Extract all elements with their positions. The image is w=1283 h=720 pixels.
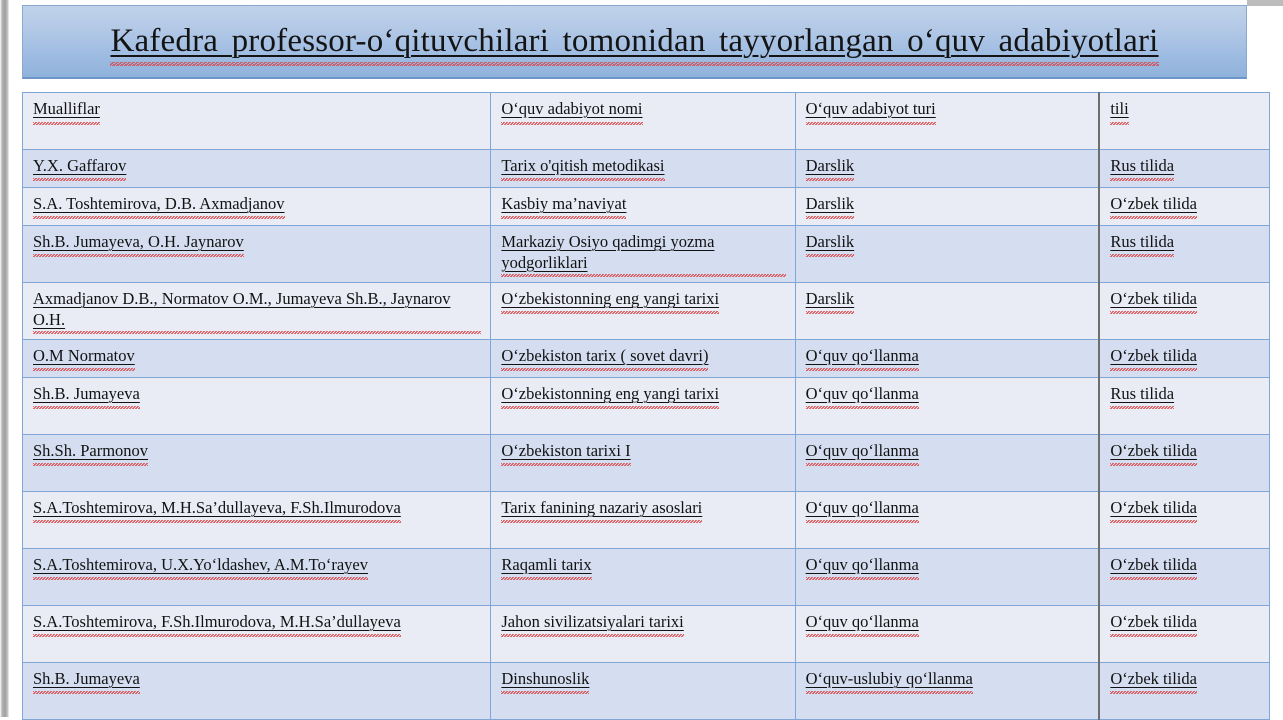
cell-type-text: Darslik — [806, 289, 855, 310]
cell-type: O‘quv qo‘llanma — [795, 378, 1099, 435]
cell-type-text: O‘quv-uslubiy qo‘llanma — [806, 669, 973, 690]
table-body: Y.X. GaffarovTarix o'qitish metodikasiDa… — [23, 150, 1270, 720]
cell-name-text: Raqamli tarix — [501, 555, 591, 576]
cell-authors-text: Sh.B. Jumayeva — [33, 384, 140, 405]
cell-type: O‘quv qo‘llanma — [795, 549, 1099, 606]
cell-authors-text: Sh.B. Jumayeva, O.H. Jaynarov — [33, 232, 244, 253]
table-row: O.M NormatovO‘zbekiston tarix ( sovet da… — [23, 340, 1270, 378]
cell-authors: S.A. Toshtemirova, D.B. Axmadjanov — [23, 188, 491, 226]
cell-type: O‘quv qo‘llanma — [795, 340, 1099, 378]
cell-authors: Y.X. Gaffarov — [23, 150, 491, 188]
cell-name-text: O‘zbekiston tarixi I — [501, 441, 630, 462]
cell-language: O‘zbek tilida — [1099, 549, 1269, 606]
cell-authors-text: Axmadjanov D.B., Normatov O.M., Jumayeva… — [33, 289, 481, 330]
cell-type-text: O‘quv qo‘llanma — [806, 441, 919, 462]
cell-name: O‘zbekistonning eng yangi tarixi — [491, 378, 795, 435]
cell-type-text: O‘quv qo‘llanma — [806, 384, 919, 405]
cell-authors-text: Sh.B. Jumayeva — [33, 669, 140, 690]
window-top-rail — [1247, 0, 1283, 6]
table-row: S.A. Toshtemirova, D.B. AxmadjanovKasbiy… — [23, 188, 1270, 226]
cell-type: Darslik — [795, 283, 1099, 340]
cell-name-text: Tarix fanining nazariy asoslari — [501, 498, 702, 519]
cell-name: O‘zbekistonning eng yangi tarixi — [491, 283, 795, 340]
cell-name-text: Markaziy Osiyo qadimgi yozma yodgorlikla… — [501, 232, 785, 273]
table-header-row: Mualliflar O‘quv adabiyot nomi O‘quv ada… — [23, 93, 1270, 150]
cell-language: O‘zbek tilida — [1099, 492, 1269, 549]
cell-type: O‘quv qo‘llanma — [795, 606, 1099, 663]
cell-name-text: O‘zbekiston tarix ( sovet davri) — [501, 346, 708, 367]
table-header: Mualliflar O‘quv adabiyot nomi O‘quv ada… — [23, 93, 1270, 150]
cell-authors: Sh.B. Jumayeva — [23, 378, 491, 435]
cell-language-text: Rus tilida — [1110, 384, 1174, 405]
cell-language-text: O‘zbek tilida — [1110, 441, 1197, 462]
cell-language: Rus tilida — [1099, 150, 1269, 188]
cell-authors-text: S.A.Toshtemirova, U.X.Yo‘ldashev, A.M.To… — [33, 555, 368, 576]
cell-name: O‘zbekiston tarixi I — [491, 435, 795, 492]
cell-name-text: O‘zbekistonning eng yangi tarixi — [501, 289, 719, 310]
cell-authors: O.M Normatov — [23, 340, 491, 378]
column-header-language: tili — [1099, 93, 1269, 150]
cell-type-text: Darslik — [806, 194, 855, 215]
cell-name: O‘zbekiston tarix ( sovet davri) — [491, 340, 795, 378]
cell-language-text: O‘zbek tilida — [1110, 194, 1197, 215]
cell-type: Darslik — [795, 150, 1099, 188]
cell-type-text: Darslik — [806, 156, 855, 177]
cell-type-text: O‘quv qo‘llanma — [806, 498, 919, 519]
page-title: Kafedra professor-o‘qituvchilari tomonid… — [110, 23, 1158, 60]
table-row: S.A.Toshtemirova, U.X.Yo‘ldashev, A.M.To… — [23, 549, 1270, 606]
table-row: S.A.Toshtemirova, M.H.Sa’dullayeva, F.Sh… — [23, 492, 1270, 549]
cell-name: Dinshunoslik — [491, 663, 795, 720]
cell-authors: Axmadjanov D.B., Normatov O.M., Jumayeva… — [23, 283, 491, 340]
cell-language: O‘zbek tilida — [1099, 606, 1269, 663]
cell-language: O‘zbek tilida — [1099, 435, 1269, 492]
cell-language: O‘zbek tilida — [1099, 663, 1269, 720]
cell-language-text: Rus tilida — [1110, 156, 1174, 177]
cell-name: Tarix o'qitish metodikasi — [491, 150, 795, 188]
cell-authors-text: Y.X. Gaffarov — [33, 156, 126, 177]
column-header-type: O‘quv adabiyot turi — [795, 93, 1099, 150]
cell-type-text: O‘quv qo‘llanma — [806, 346, 919, 367]
cell-authors-text: O.M Normatov — [33, 346, 135, 367]
cell-name-text: Kasbiy ma’naviyat — [501, 194, 626, 215]
cell-authors-text: S.A.Toshtemirova, F.Sh.Ilmurodova, M.H.S… — [33, 612, 401, 633]
cell-type: O‘quv qo‘llanma — [795, 435, 1099, 492]
cell-language-text: O‘zbek tilida — [1110, 498, 1197, 519]
cell-authors-text: S.A.Toshtemirova, M.H.Sa’dullayeva, F.Sh… — [33, 498, 401, 519]
table-row: Sh.Sh. ParmonovO‘zbekiston tarixi IO‘quv… — [23, 435, 1270, 492]
cell-type: O‘quv qo‘llanma — [795, 492, 1099, 549]
cell-language-text: Rus tilida — [1110, 232, 1174, 253]
cell-authors: S.A.Toshtemirova, U.X.Yo‘ldashev, A.M.To… — [23, 549, 491, 606]
cell-authors: Sh.B. Jumayeva, O.H. Jaynarov — [23, 226, 491, 283]
column-header-authors: Mualliflar — [23, 93, 491, 150]
cell-authors: Sh.Sh. Parmonov — [23, 435, 491, 492]
column-header-language-label: tili — [1110, 99, 1128, 120]
cell-authors: Sh.B. Jumayeva — [23, 663, 491, 720]
cell-type: O‘quv-uslubiy qo‘llanma — [795, 663, 1099, 720]
cell-name-text: Dinshunoslik — [501, 669, 589, 690]
cell-type: Darslik — [795, 188, 1099, 226]
cell-authors-text: Sh.Sh. Parmonov — [33, 441, 148, 462]
window-left-rail — [0, 0, 9, 717]
cell-language-text: O‘zbek tilida — [1110, 289, 1197, 310]
cell-name-text: Jahon sivilizatsiyalari tarixi — [501, 612, 683, 633]
cell-name: Tarix fanining nazariy asoslari — [491, 492, 795, 549]
cell-language: Rus tilida — [1099, 226, 1269, 283]
cell-type-text: O‘quv qo‘llanma — [806, 612, 919, 633]
cell-authors: S.A.Toshtemirova, M.H.Sa’dullayeva, F.Sh… — [23, 492, 491, 549]
cell-name: Raqamli tarix — [491, 549, 795, 606]
cell-name: Kasbiy ma’naviyat — [491, 188, 795, 226]
cell-name: Markaziy Osiyo qadimgi yozma yodgorlikla… — [491, 226, 795, 283]
title-banner: Kafedra professor-o‘qituvchilari tomonid… — [22, 5, 1247, 79]
column-header-authors-label: Mualliflar — [33, 99, 100, 120]
column-header-name-label: O‘quv adabiyot nomi — [501, 99, 642, 120]
table-row: S.A.Toshtemirova, F.Sh.Ilmurodova, M.H.S… — [23, 606, 1270, 663]
table-row: Sh.B. JumayevaDinshunoslikO‘quv-uslubiy … — [23, 663, 1270, 720]
column-header-name: O‘quv adabiyot nomi — [491, 93, 795, 150]
cell-name-text: Tarix o'qitish metodikasi — [501, 156, 664, 177]
cell-type-text: Darslik — [806, 232, 855, 253]
cell-language: O‘zbek tilida — [1099, 340, 1269, 378]
textbooks-table: Mualliflar O‘quv adabiyot nomi O‘quv ada… — [22, 92, 1270, 720]
cell-language: O‘zbek tilida — [1099, 283, 1269, 340]
table-row: Y.X. GaffarovTarix o'qitish metodikasiDa… — [23, 150, 1270, 188]
table-row: Sh.B. JumayevaO‘zbekistonning eng yangi … — [23, 378, 1270, 435]
cell-language-text: O‘zbek tilida — [1110, 346, 1197, 367]
cell-name: Jahon sivilizatsiyalari tarixi — [491, 606, 795, 663]
cell-language-text: O‘zbek tilida — [1110, 612, 1197, 633]
column-header-type-label: O‘quv adabiyot turi — [806, 99, 936, 120]
cell-language: O‘zbek tilida — [1099, 188, 1269, 226]
table-row: Axmadjanov D.B., Normatov O.M., Jumayeva… — [23, 283, 1270, 340]
cell-type: Darslik — [795, 226, 1099, 283]
cell-name-text: O‘zbekistonning eng yangi tarixi — [501, 384, 719, 405]
cell-language: Rus tilida — [1099, 378, 1269, 435]
cell-type-text: O‘quv qo‘llanma — [806, 555, 919, 576]
cell-language-text: O‘zbek tilida — [1110, 669, 1197, 690]
cell-language-text: O‘zbek tilida — [1110, 555, 1197, 576]
cell-authors: S.A.Toshtemirova, F.Sh.Ilmurodova, M.H.S… — [23, 606, 491, 663]
table-row: Sh.B. Jumayeva, O.H. JaynarovMarkaziy Os… — [23, 226, 1270, 283]
cell-authors-text: S.A. Toshtemirova, D.B. Axmadjanov — [33, 194, 285, 215]
